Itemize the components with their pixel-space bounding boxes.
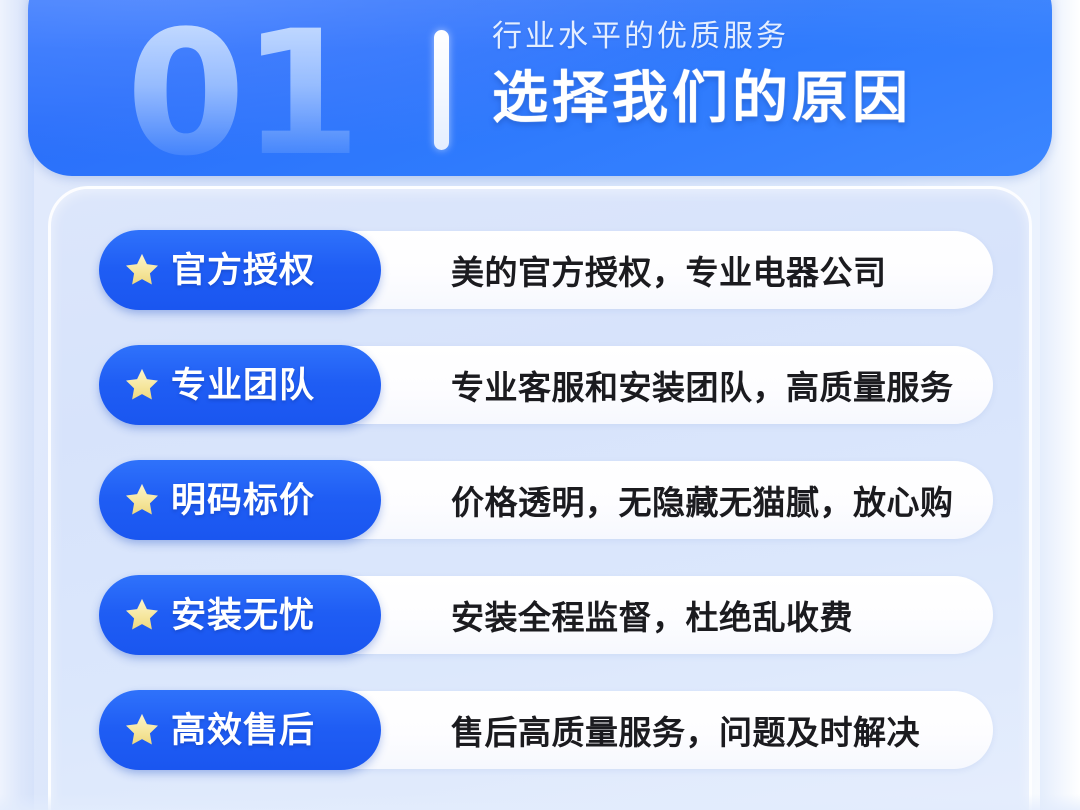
list-item-badge-label: 明码标价 xyxy=(171,483,315,518)
list-item-badge-label: 专业团队 xyxy=(171,368,315,403)
reasons-list: 官方授权美的官方授权，专业电器公司专业团队专业客服和安装团队，高质量服务明码标价… xyxy=(51,189,1029,806)
list-item-badge[interactable]: 高效售后 xyxy=(99,690,381,770)
promo-slide: 01 行业水平的优质服务 选择我们的原因 官方授权美的官方授权，专业电器公司专业… xyxy=(0,0,1080,810)
list-item-description: 专业客服和安装团队，高质量服务 xyxy=(451,346,954,424)
list-item-description: 美的官方授权，专业电器公司 xyxy=(451,231,887,309)
list-item-badge[interactable]: 安装无忧 xyxy=(99,575,381,655)
star-icon xyxy=(123,481,161,519)
header-text-group: 行业水平的优质服务 选择我们的原因 xyxy=(492,22,1032,126)
header-title: 选择我们的原因 xyxy=(492,70,1032,126)
list-item-badge[interactable]: 官方授权 xyxy=(99,230,381,310)
reasons-card: 官方授权美的官方授权，专业电器公司专业团队专业客服和安装团队，高质量服务明码标价… xyxy=(48,186,1032,810)
header-divider-bar xyxy=(434,30,449,150)
list-item[interactable]: 明码标价价格透明，无隐藏无猫腻，放心购 xyxy=(51,461,1029,539)
list-item-description: 价格透明，无隐藏无猫腻，放心购 xyxy=(451,461,954,539)
list-item[interactable]: 专业团队专业客服和安装团队，高质量服务 xyxy=(51,346,1029,424)
list-item-description: 售后高质量服务，问题及时解决 xyxy=(451,691,920,769)
list-item[interactable]: 安装无忧安装全程监督，杜绝乱收费 xyxy=(51,576,1029,654)
list-item-badge[interactable]: 专业团队 xyxy=(99,345,381,425)
list-item-badge-label: 高效售后 xyxy=(171,713,315,748)
header-subtitle: 行业水平的优质服务 xyxy=(492,22,1032,52)
list-item-badge-label: 官方授权 xyxy=(171,253,315,288)
star-icon xyxy=(123,711,161,749)
list-item-badge[interactable]: 明码标价 xyxy=(99,460,381,540)
list-item-description: 安装全程监督，杜绝乱收费 xyxy=(451,576,853,654)
section-number: 01 xyxy=(126,8,357,176)
list-item-badge-label: 安装无忧 xyxy=(171,598,315,633)
star-icon xyxy=(123,366,161,404)
list-item[interactable]: 高效售后售后高质量服务，问题及时解决 xyxy=(51,691,1029,769)
star-icon xyxy=(123,251,161,289)
star-icon xyxy=(123,596,161,634)
header-panel: 01 行业水平的优质服务 选择我们的原因 xyxy=(28,0,1052,176)
list-item[interactable]: 官方授权美的官方授权，专业电器公司 xyxy=(51,231,1029,309)
